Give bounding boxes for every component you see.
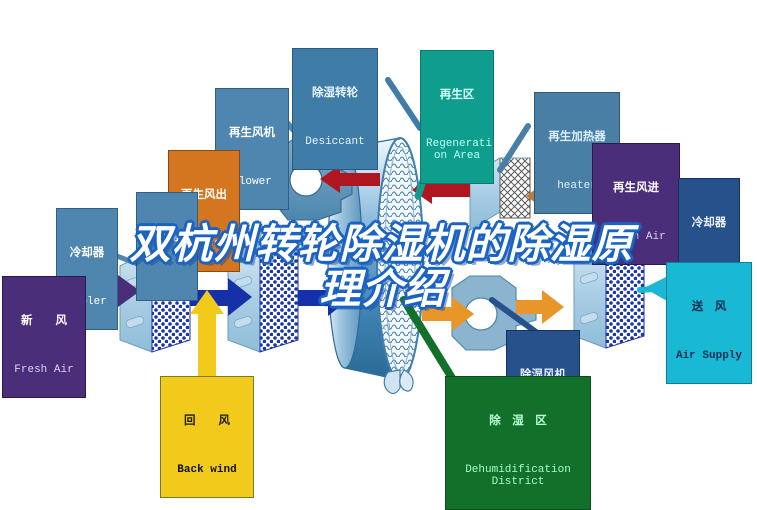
label-dehumidification-district-cn: 除 湿 区 (451, 415, 585, 428)
label-fresh-air-en: Fresh Air (8, 364, 80, 376)
condensate-drain (384, 370, 413, 394)
label-cooler-left-2-cn: 冷却器 (142, 231, 192, 244)
label-regeneration-fresh-air-cn: 再生风进 (598, 182, 674, 195)
label-air-supply-en: Air Supply (672, 350, 746, 362)
label-cooler-left-1-cn: 冷却器 (62, 247, 112, 260)
label-dehumidification-district-en: Dehumidification District (451, 464, 585, 489)
label-back-wind-en: Back wind (166, 464, 248, 476)
label-regeneration-heater-cn: 再生加热器 (540, 131, 614, 144)
label-fresh-air-cn: 新 风 (8, 315, 80, 328)
svg-text:x1: x1 (381, 323, 392, 333)
label-desiccant-wheel: 除湿转轮 Desiccant (292, 48, 378, 170)
label-regeneration-area-en: Regenerati on Area (426, 138, 488, 163)
label-regeneration-blower-cn: 再生风机 (221, 127, 283, 140)
label-air-supply: 送 风 Air Supply (666, 262, 752, 384)
diagram-canvas: x1 (0, 0, 757, 488)
label-desiccant-wheel-en: Desiccant (298, 136, 372, 148)
label-back-wind: 回 风 Back wind (160, 376, 254, 498)
label-fresh-air: 新 风 Fresh Air (2, 276, 86, 398)
label-air-supply-cn: 送 风 (672, 301, 746, 314)
label-cooler-right-cn: 冷却器 (684, 217, 734, 230)
label-regeneration-area: 再生区 Regenerati on Area (420, 50, 494, 184)
label-dehumidification-district: 除 湿 区 Dehumidification District (445, 376, 591, 510)
label-regeneration-area-cn: 再生区 (426, 89, 488, 102)
label-regeneration-fresh-air: 再生风进 Fresh Air (592, 143, 680, 265)
label-back-wind-cn: 回 风 (166, 415, 248, 428)
label-desiccant-wheel-cn: 除湿转轮 (298, 87, 372, 100)
label-cooler-left-2: 冷却器 (136, 192, 198, 301)
label-regeneration-fresh-air-en: Fresh Air (598, 231, 674, 243)
